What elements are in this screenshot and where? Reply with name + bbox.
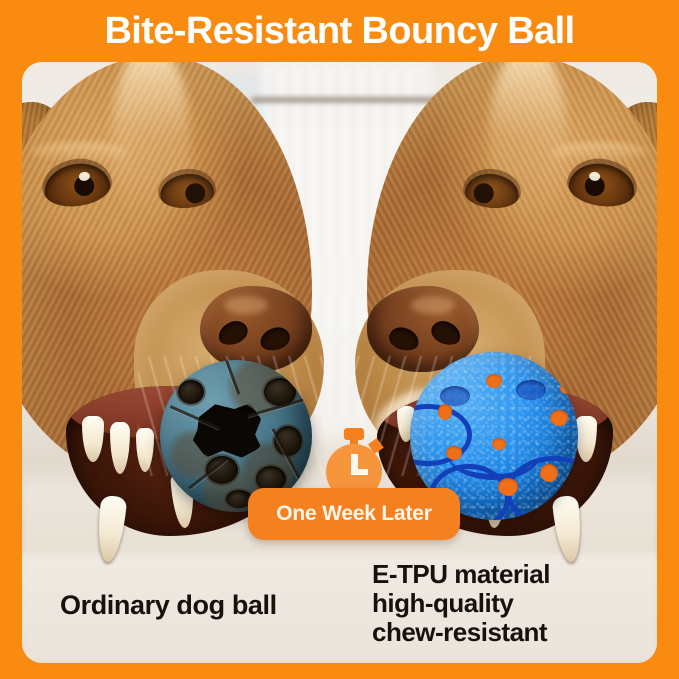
caption-line-3: chew-resistant <box>372 618 550 647</box>
orange-speck <box>560 382 572 394</box>
dog-tooth <box>136 428 154 472</box>
dog-brow <box>551 142 647 162</box>
dog-pupil <box>473 183 495 205</box>
dog-nose <box>200 286 312 372</box>
ball-face-eye <box>516 380 546 400</box>
badge-label: One Week Later <box>276 502 432 526</box>
dog-tooth <box>575 416 597 462</box>
caption-etpu-strong: E-TPU <box>372 559 448 589</box>
page-title: Bite-Resistant Bouncy Ball <box>104 10 574 53</box>
orange-speck <box>540 464 558 482</box>
dog-fang <box>95 495 128 563</box>
dog-nostril <box>428 318 463 348</box>
dog-nostril <box>258 325 292 353</box>
nose-highlight <box>411 296 455 314</box>
orange-speck <box>486 374 502 388</box>
header-banner: Bite-Resistant Bouncy Ball <box>0 0 679 62</box>
orange-speck <box>498 478 518 496</box>
orange-speck <box>492 438 506 450</box>
caption-etpu-ball: E-TPU material high-quality chew-resista… <box>372 560 550 647</box>
product-photo <box>22 62 657 663</box>
caption-ordinary-ball: Ordinary dog ball <box>60 590 277 621</box>
nose-highlight <box>224 296 268 314</box>
orange-speck <box>446 446 462 460</box>
dog-nostril <box>387 325 421 353</box>
caption-line-1: E-TPU material <box>372 560 550 589</box>
orange-speck <box>438 404 452 420</box>
dog-nostril <box>215 318 250 348</box>
dog-pupil <box>184 183 206 205</box>
orange-speck <box>550 410 568 426</box>
product-poster: Bite-Resistant Bouncy Ball <box>0 0 679 679</box>
dog-tooth <box>82 416 104 462</box>
ball-face-eye <box>440 386 470 406</box>
chew-hole <box>178 380 204 404</box>
one-week-later-badge: One Week Later <box>248 488 460 540</box>
caption-etpu-rest: material <box>448 559 550 589</box>
dog-brow <box>32 142 128 162</box>
caption-line-2: high-quality <box>372 589 550 618</box>
dog-tooth <box>110 422 130 474</box>
